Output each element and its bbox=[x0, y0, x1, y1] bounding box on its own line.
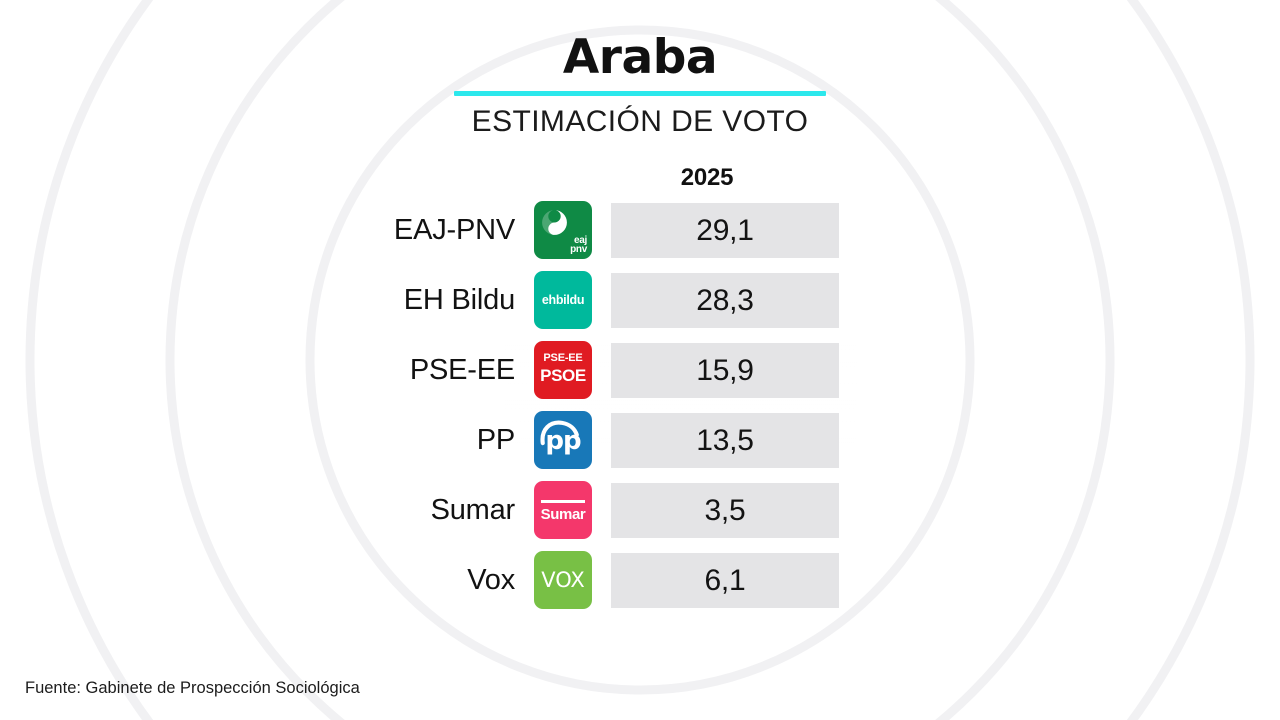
party-value-cell: 29,1 bbox=[611, 203, 839, 258]
vote-value: 13,5 bbox=[611, 413, 839, 468]
sumar-logo-text: Sumar bbox=[534, 506, 592, 523]
vox-logo-text: VOX bbox=[534, 568, 592, 592]
party-label: Vox bbox=[300, 564, 533, 597]
party-label: EH Bildu bbox=[300, 284, 533, 317]
party-logo-cell: Sumar bbox=[533, 481, 593, 539]
party-label: PSE-EE bbox=[300, 354, 533, 387]
page-subtitle: ESTIMACIÓN DE VOTO bbox=[0, 105, 1280, 139]
table-row: Vox VOX 6,1 bbox=[300, 545, 860, 615]
chart-header: Araba ESTIMACIÓN DE VOTO bbox=[0, 34, 1280, 139]
pse-ee-logo-text: PSE-EE bbox=[534, 352, 592, 364]
party-value-cell: 13,5 bbox=[611, 413, 839, 468]
year-header-label: 2025 bbox=[593, 164, 821, 192]
pp-logo-text: pp bbox=[534, 428, 592, 454]
vox-logo-icon: VOX bbox=[534, 551, 592, 609]
party-label: Sumar bbox=[300, 494, 533, 527]
table-row: EAJ-PNV eajpnv 29,1 bbox=[300, 195, 860, 265]
party-logo-cell: eajpnv bbox=[533, 201, 593, 259]
party-value-cell: 15,9 bbox=[611, 343, 839, 398]
party-value-cell: 28,3 bbox=[611, 273, 839, 328]
party-logo-cell: pp bbox=[533, 411, 593, 469]
vote-value: 15,9 bbox=[611, 343, 839, 398]
table-row: EH Bildu ehbildu 28,3 bbox=[300, 265, 860, 335]
vote-value: 28,3 bbox=[611, 273, 839, 328]
column-header-year: 2025 bbox=[593, 164, 821, 192]
sumar-bar-icon bbox=[541, 500, 585, 503]
vote-value: 6,1 bbox=[611, 553, 839, 608]
sumar-logo-icon: Sumar bbox=[534, 481, 592, 539]
eh-bildu-logo-text: ehbildu bbox=[534, 293, 592, 307]
pnv-text: pnv bbox=[570, 244, 587, 255]
party-logo-cell: PSE-EE PSOE bbox=[533, 341, 593, 399]
source-note: Fuente: Gabinete de Prospección Sociológ… bbox=[25, 679, 360, 698]
table-row: PSE-EE PSE-EE PSOE 15,9 bbox=[300, 335, 860, 405]
eaj-pnv-logo-text: eajpnv bbox=[570, 236, 587, 254]
party-value-cell: 6,1 bbox=[611, 553, 839, 608]
table-header-row: 2025 bbox=[300, 160, 860, 195]
vote-value: 29,1 bbox=[611, 203, 839, 258]
table-row: Sumar Sumar 3,5 bbox=[300, 475, 860, 545]
party-logo-cell: ehbildu bbox=[533, 271, 593, 329]
party-value-cell: 3,5 bbox=[611, 483, 839, 538]
psoe-logo-text: PSOE bbox=[534, 366, 592, 386]
pnv-swirl-icon bbox=[541, 209, 568, 236]
table-row: PP pp 13,5 bbox=[300, 405, 860, 475]
pse-ee-psoe-logo-icon: PSE-EE PSOE bbox=[534, 341, 592, 399]
party-label: PP bbox=[300, 424, 533, 457]
vote-value: 3,5 bbox=[611, 483, 839, 538]
title-underline-rule bbox=[454, 91, 826, 96]
vote-estimate-table: 2025 EAJ-PNV eajpnv 29,1 EH Bildu ehb bbox=[300, 160, 860, 615]
eaj-pnv-logo-icon: eajpnv bbox=[534, 201, 592, 259]
page-title: Araba bbox=[0, 34, 1280, 83]
pp-logo-icon: pp bbox=[534, 411, 592, 469]
eh-bildu-logo-icon: ehbildu bbox=[534, 271, 592, 329]
party-logo-cell: VOX bbox=[533, 551, 593, 609]
party-label: EAJ-PNV bbox=[300, 214, 533, 247]
